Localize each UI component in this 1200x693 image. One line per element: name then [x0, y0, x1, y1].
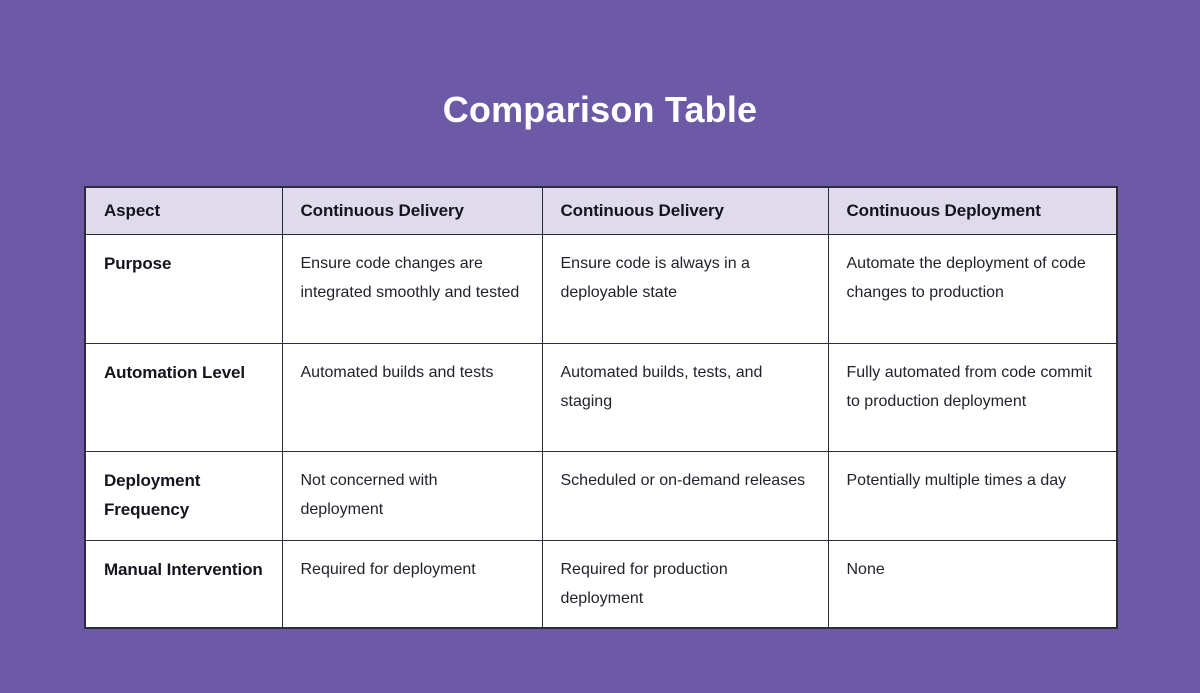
table-header: Aspect Continuous Delivery Continuous De…	[85, 187, 1117, 235]
table-row: Automation Level Automated builds and te…	[85, 344, 1117, 452]
cell-text: Fully automated from code commit to prod…	[847, 358, 1099, 416]
table-header-row: Aspect Continuous Delivery Continuous De…	[85, 187, 1117, 235]
row-aspect-label: Deployment Frequency	[85, 452, 282, 541]
comparison-table: Aspect Continuous Delivery Continuous De…	[84, 186, 1118, 629]
cell-text: Ensure code changes are integrated smoot…	[301, 249, 524, 307]
cell-text: Scheduled or on-demand releases	[561, 466, 810, 495]
table-cell: Automated builds, tests, and staging	[542, 344, 828, 452]
row-aspect-label: Automation Level	[85, 344, 282, 452]
column-header-aspect: Aspect	[85, 187, 282, 235]
table-cell: Not concerned with deployment	[282, 452, 542, 541]
page-title: Comparison Table	[0, 86, 1200, 134]
table-cell: Required for production deployment	[542, 541, 828, 629]
cell-text: Ensure code is always in a deployable st…	[561, 249, 810, 307]
row-aspect-label: Purpose	[85, 235, 282, 344]
table-cell: None	[828, 541, 1117, 629]
table-cell: Potentially multiple times a day	[828, 452, 1117, 541]
cell-text: Not concerned with deployment	[301, 466, 524, 524]
cell-text: Required for deployment	[301, 555, 524, 584]
slide-canvas: Comparison Table Aspect Continuous Deliv…	[0, 0, 1200, 693]
title-container: Comparison Table	[0, 86, 1200, 134]
table-row: Manual Intervention Required for deploym…	[85, 541, 1117, 629]
cell-text: Required for production deployment	[561, 555, 810, 613]
table-cell: Fully automated from code commit to prod…	[828, 344, 1117, 452]
table-cell: Scheduled or on-demand releases	[542, 452, 828, 541]
column-header-continuous-integration: Continuous Delivery	[282, 187, 542, 235]
table-row: Deployment Frequency Not concerned with …	[85, 452, 1117, 541]
table-body: Purpose Ensure code changes are integrat…	[85, 235, 1117, 629]
row-aspect-label: Manual Intervention	[85, 541, 282, 629]
column-header-continuous-delivery: Continuous Delivery	[542, 187, 828, 235]
comparison-table-container: Aspect Continuous Delivery Continuous De…	[84, 186, 1116, 629]
cell-text: Automated builds, tests, and staging	[561, 358, 810, 416]
column-header-continuous-deployment: Continuous Deployment	[828, 187, 1117, 235]
cell-text: Automate the deployment of code changes …	[847, 249, 1099, 307]
cell-text: Automated builds and tests	[301, 358, 524, 387]
table-cell: Automated builds and tests	[282, 344, 542, 452]
table-cell: Required for deployment	[282, 541, 542, 629]
table-cell: Ensure code changes are integrated smoot…	[282, 235, 542, 344]
table-cell: Automate the deployment of code changes …	[828, 235, 1117, 344]
table-row: Purpose Ensure code changes are integrat…	[85, 235, 1117, 344]
cell-text: None	[847, 555, 1099, 584]
table-cell: Ensure code is always in a deployable st…	[542, 235, 828, 344]
cell-text: Potentially multiple times a day	[847, 466, 1099, 495]
